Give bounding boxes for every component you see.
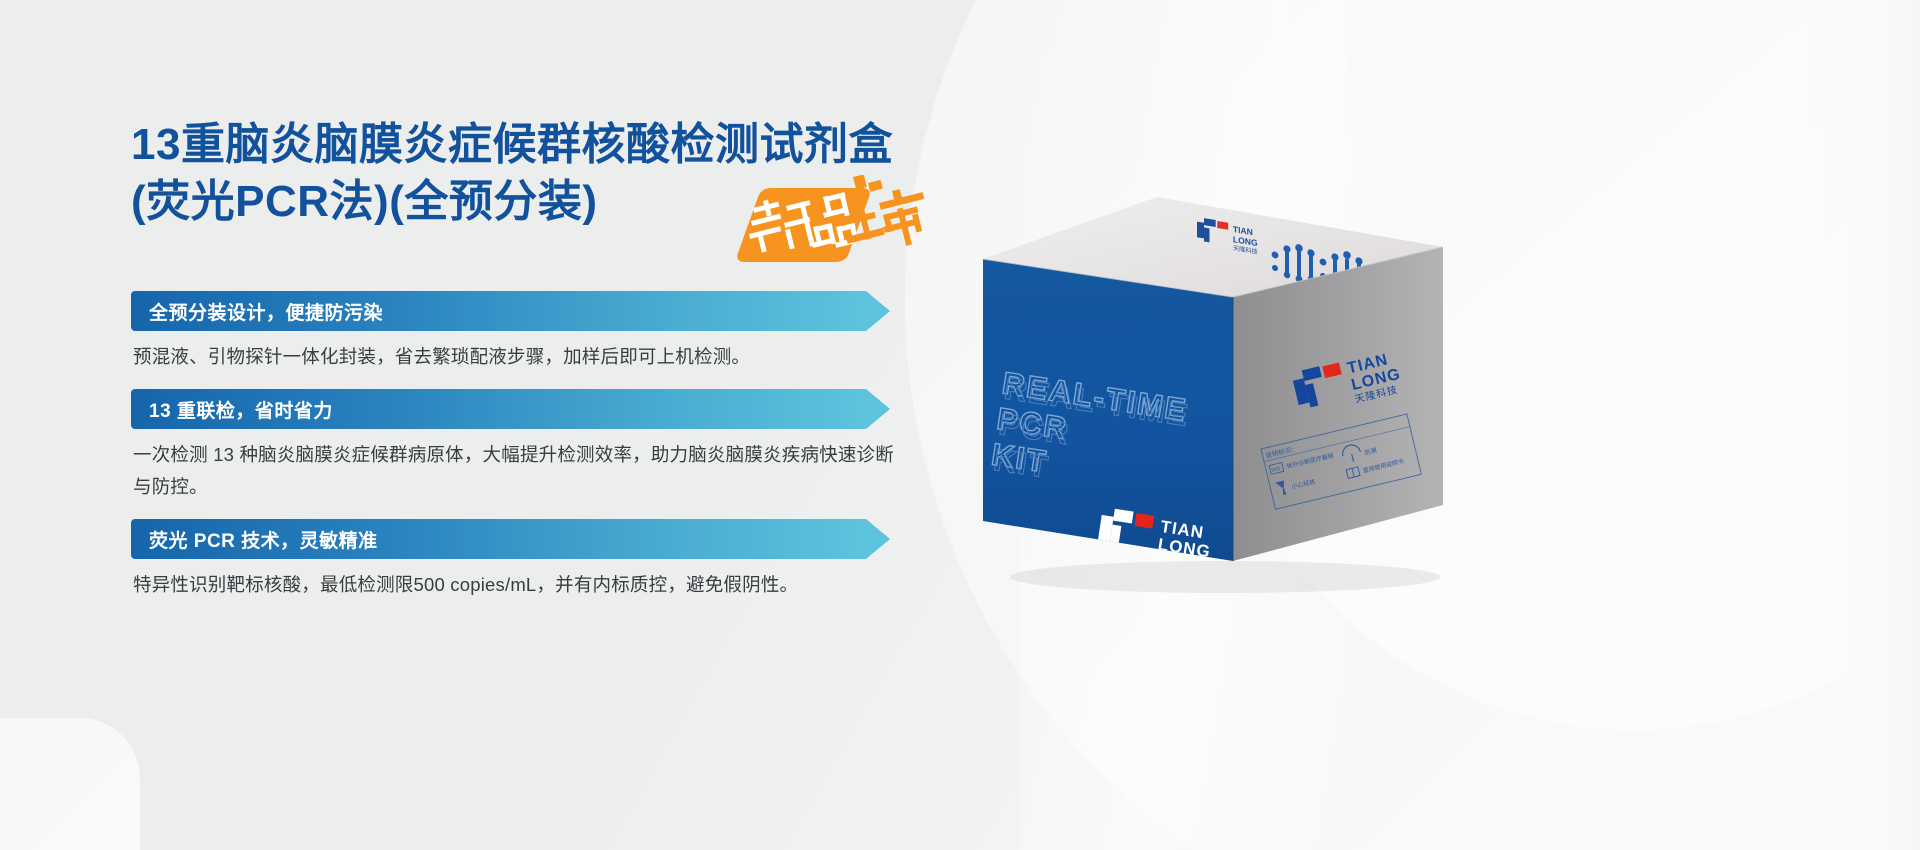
feature-item: 全预分装设计，便捷防污染 预混液、引物探针一体化封装，省去繁琐配液步骤，加样后即… bbox=[131, 291, 921, 381]
feature-label: 全预分装设计，便捷防污染 bbox=[131, 298, 383, 325]
feature-bar: 全预分装设计，便捷防污染 bbox=[131, 291, 889, 331]
feature-label: 13 重联检，省时省力 bbox=[131, 396, 333, 423]
feature-item: 13 重联检，省时省力 一次检测 13 种脑炎脑膜炎症候群病原体，大幅提升检测效… bbox=[131, 389, 921, 511]
feature-description: 一次检测 13 种脑炎脑膜炎症候群病原体，大幅提升检测效率，助力脑炎脑膜炎疾病快… bbox=[131, 429, 903, 511]
promo-banner: 13重脑炎脑膜炎症候群核酸检测试剂盒 (荧光PCR法)(全预分装) bbox=[0, 0, 1920, 850]
feature-list: 全预分装设计，便捷防污染 预混液、引物探针一体化封装，省去繁琐配液步骤，加样后即… bbox=[131, 291, 921, 617]
box-side-face bbox=[1233, 247, 1443, 561]
page-title-line-1: 13重脑炎脑膜炎症候群核酸检测试剂盒 bbox=[131, 116, 1031, 173]
feature-bar-arrow-tip bbox=[866, 519, 890, 559]
feature-description: 特异性识别靶标核酸，最低检测限500 copies/mL，并有内标质控，避免假阴… bbox=[131, 559, 903, 609]
page-title-line-2: (荧光PCR法)(全预分装) bbox=[131, 173, 1031, 230]
feature-bar-arrow-tip bbox=[866, 291, 890, 331]
content-column: 13重脑炎脑膜炎症候群核酸检测试剂盒 (荧光PCR法)(全预分装) bbox=[0, 0, 1120, 850]
background-right-edge bbox=[1790, 0, 1920, 850]
feature-bar: 13 重联检，省时省力 bbox=[131, 389, 889, 429]
box-shadow bbox=[1010, 561, 1440, 593]
feature-bar-arrow-tip bbox=[866, 389, 890, 429]
feature-description: 预混液、引物探针一体化封装，省去繁琐配液步骤，加样后即可上机检测。 bbox=[131, 331, 903, 381]
product-box-image: TIAN LONG 天隆科技 bbox=[975, 185, 1495, 605]
page-title: 13重脑炎脑膜炎症候群核酸检测试剂盒 (荧光PCR法)(全预分装) bbox=[131, 116, 1031, 230]
feature-bar: 荧光 PCR 技术，灵敏精准 bbox=[131, 519, 889, 559]
feature-item: 荧光 PCR 技术，灵敏精准 特异性识别靶标核酸，最低检测限500 copies… bbox=[131, 519, 921, 609]
feature-label: 荧光 PCR 技术，灵敏精准 bbox=[131, 526, 378, 553]
